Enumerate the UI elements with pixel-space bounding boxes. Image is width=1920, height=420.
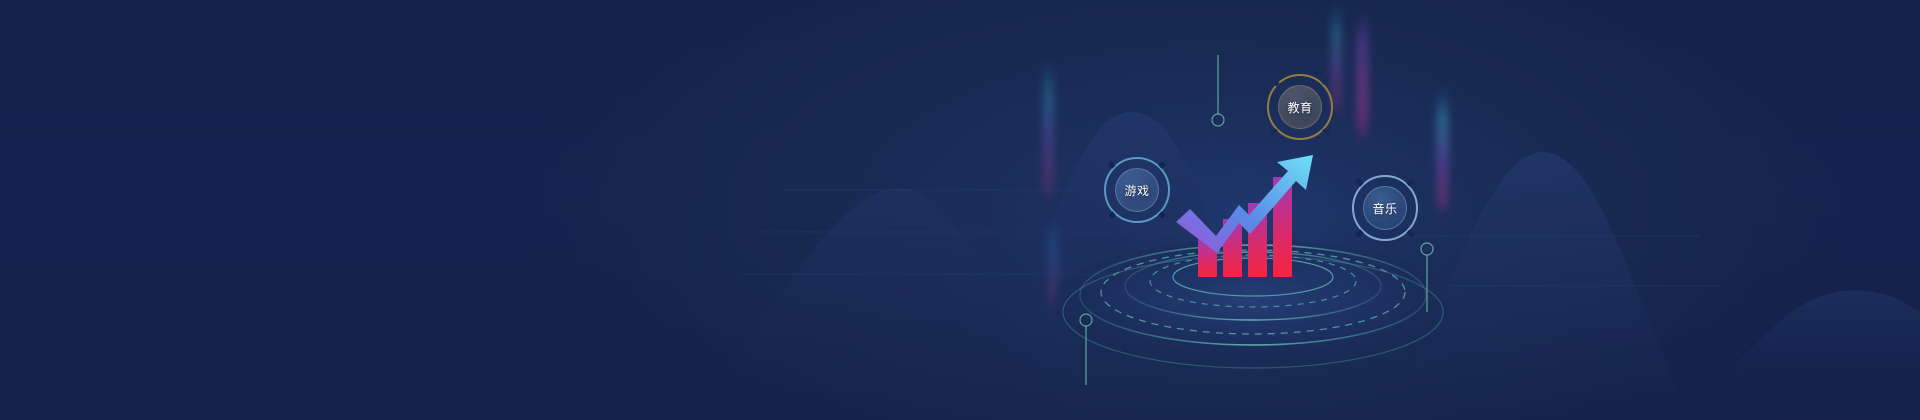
hero-banner: 游戏 教育 <box>0 0 1920 420</box>
connector-nodes <box>0 0 1920 420</box>
badge-music[interactable]: 音乐 <box>1350 173 1420 243</box>
badge-education-label: 教育 <box>1278 85 1322 129</box>
node-top-dot <box>1212 114 1224 126</box>
badge-game-label: 游戏 <box>1115 168 1159 212</box>
badge-game[interactable]: 游戏 <box>1102 155 1172 225</box>
badge-music-label: 音乐 <box>1363 186 1407 230</box>
node-bottom-dot <box>1080 314 1092 326</box>
node-right-dot <box>1421 243 1433 255</box>
badge-education[interactable]: 教育 <box>1265 72 1335 142</box>
